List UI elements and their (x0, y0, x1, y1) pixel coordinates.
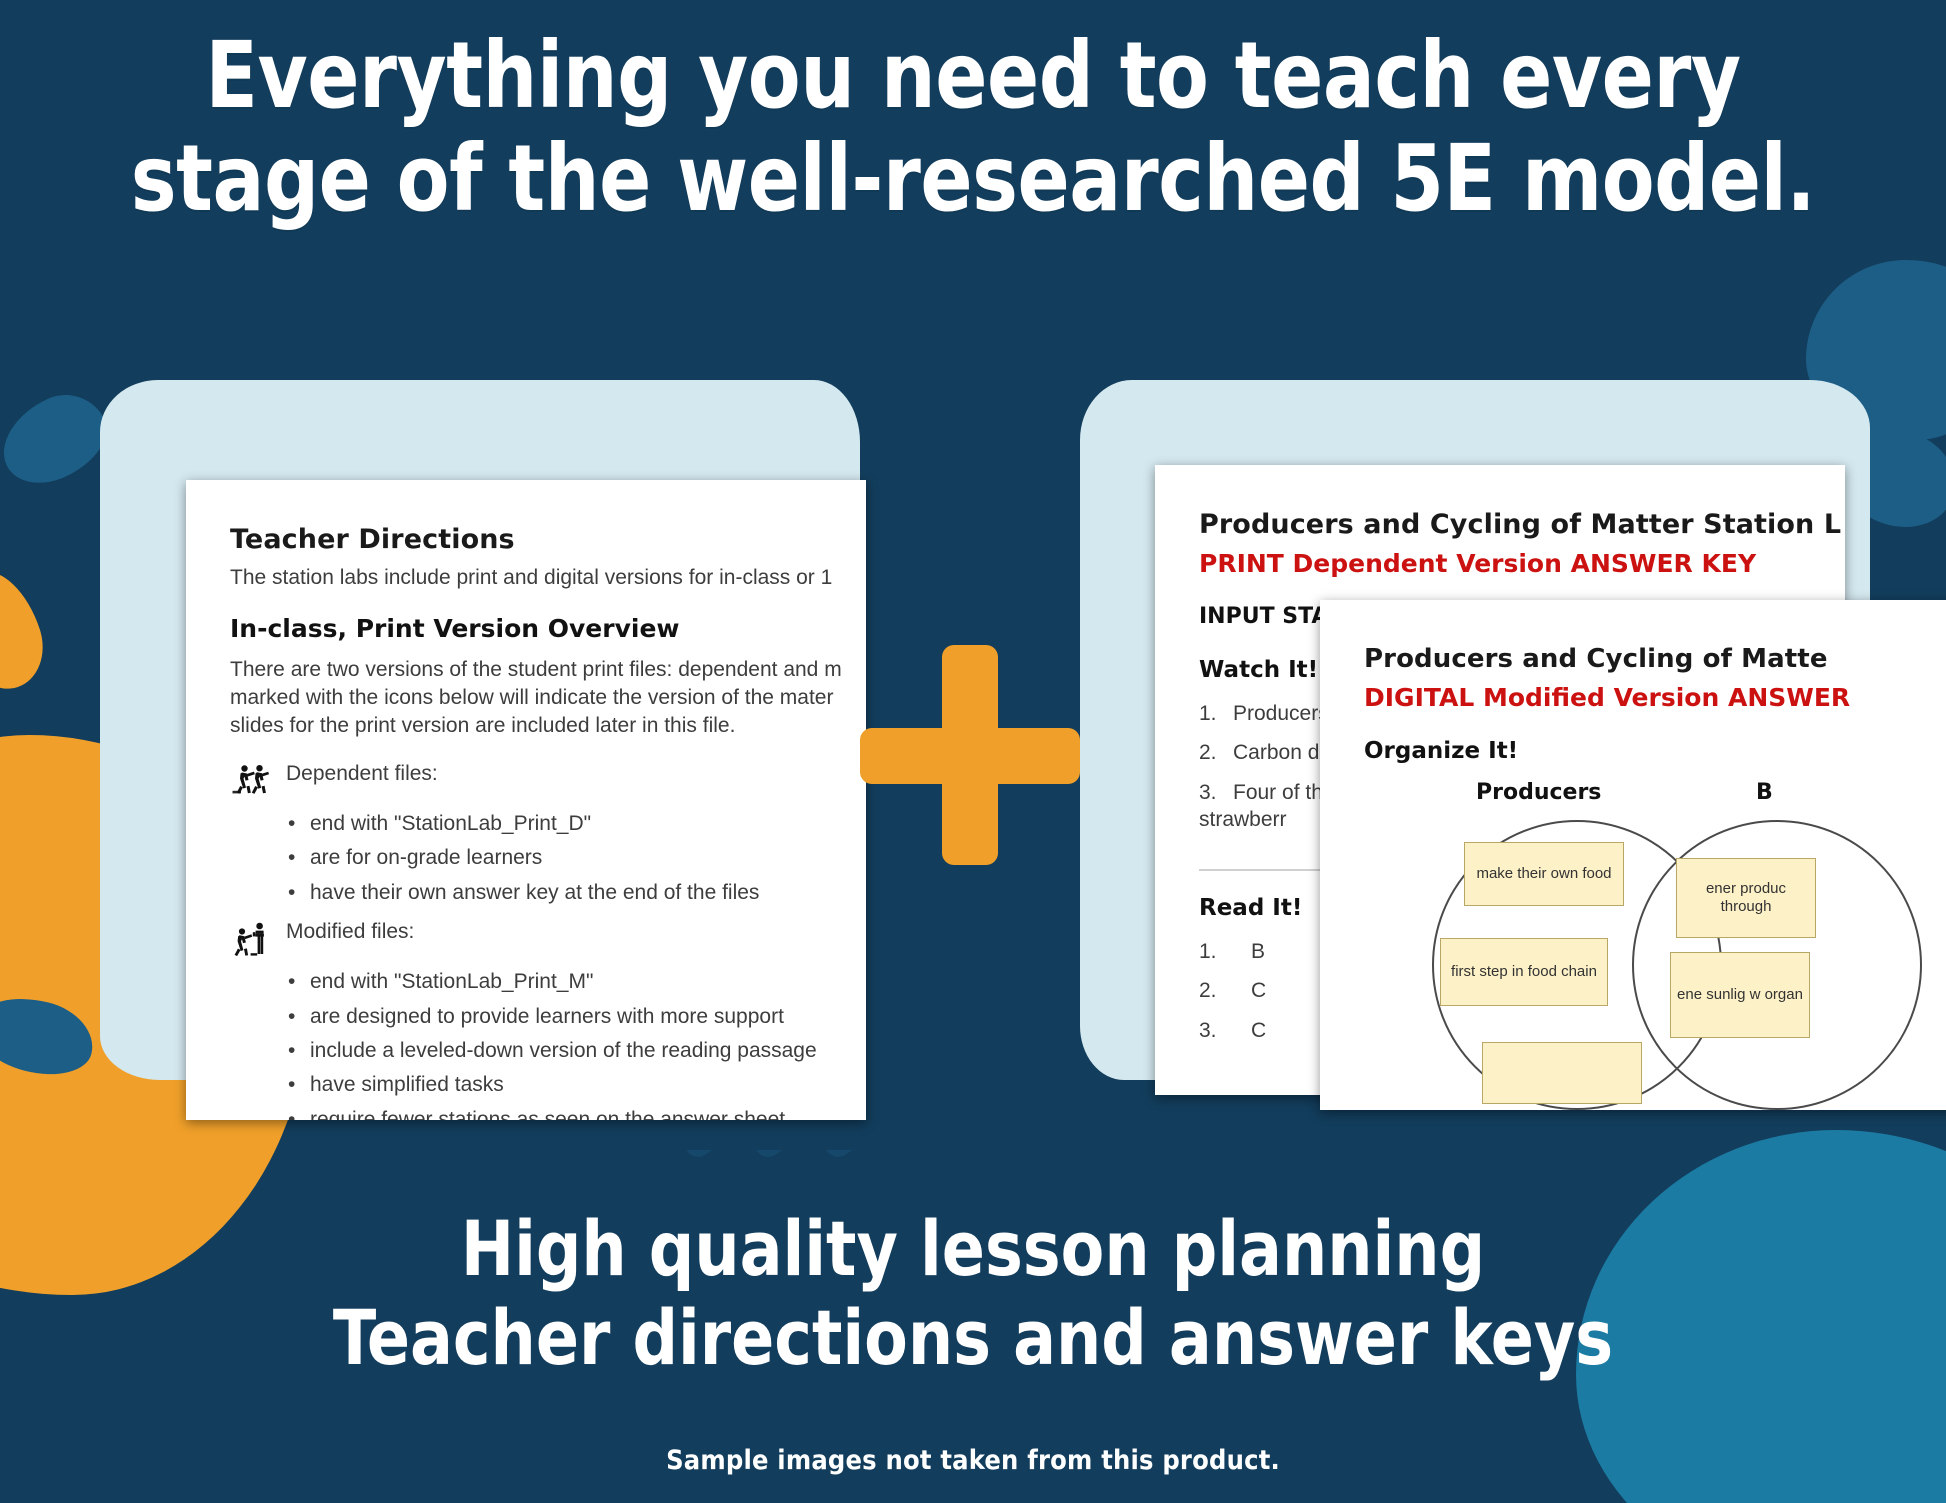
note-box: first step in food chain (1440, 938, 1608, 1006)
list-item: require fewer stations as seen on the an… (284, 1103, 866, 1120)
doc-left-paragraph-line-1: There are two versions of the student pr… (230, 656, 866, 684)
doc-left-paragraph-line-2: marked with the icons below will indicat… (230, 684, 866, 712)
doc-front-organize-heading: Organize It! (1364, 738, 1946, 764)
list-item: end with "StationLab_Print_M" (284, 965, 866, 999)
footer-headline-line-1: High quality lesson planning (68, 1205, 1878, 1294)
page-title: Everything you need to teach every stage… (68, 24, 1878, 230)
list-item: have simplified tasks (284, 1068, 866, 1102)
note-box: ener produc through (1676, 858, 1816, 938)
diagram-column-label-b: B (1756, 780, 1773, 805)
note-box: make their own food (1464, 842, 1624, 906)
note-box: ene sunlig w organ (1670, 952, 1810, 1038)
dependent-files-group: Dependent files: (230, 762, 866, 803)
doc-mid-subtitle: PRINT Dependent Version ANSWER KEY (1199, 549, 1845, 578)
dependent-files-label: Dependent files: (286, 762, 438, 786)
plus-icon (860, 645, 1080, 865)
digital-answer-key-document[interactable]: Producers and Cycling of Matte DIGITAL M… (1320, 600, 1946, 1110)
dependent-files-list: end with "StationLab_Print_D" are for on… (284, 807, 866, 910)
disclaimer-text: Sample images not taken from this produc… (0, 1445, 1946, 1476)
teacher-directions-document[interactable]: Teacher Directions The station labs incl… (186, 480, 866, 1120)
modified-files-list: end with "StationLab_Print_M" are design… (284, 965, 866, 1120)
list-item: have their own answer key at the end of … (284, 876, 866, 910)
doc-front-title: Producers and Cycling of Matte (1364, 644, 1946, 674)
page-title-line-1: Everything you need to teach every (68, 24, 1878, 127)
teacher-and-student-icon (230, 920, 270, 961)
page-title-line-2: stage of the well-researched 5E model. (68, 127, 1878, 230)
list-item: are for on-grade learners (284, 841, 866, 875)
organize-it-venn-diagram: Producers B make their own food ener pro… (1364, 780, 1946, 1110)
doc-left-title: Teacher Directions (230, 524, 866, 555)
modified-files-label: Modified files: (286, 920, 414, 944)
two-people-running-icon (230, 762, 270, 803)
diagram-column-label-producers: Producers (1476, 780, 1601, 805)
footer-headline: High quality lesson planning Teacher dir… (68, 1205, 1878, 1383)
decorative-blob-orange-small (0, 561, 55, 699)
doc-left-paragraph-line-3: slides for the print version are include… (230, 712, 866, 740)
list-item: are designed to provide learners with mo… (284, 1000, 866, 1034)
doc-left-intro: The station labs include print and digit… (230, 564, 866, 592)
doc-mid-title: Producers and Cycling of Matter Station … (1199, 509, 1845, 540)
note-box (1482, 1042, 1642, 1104)
list-item: include a leveled-down version of the re… (284, 1034, 866, 1068)
doc-left-section-heading: In-class, Print Version Overview (230, 614, 866, 643)
list-item: end with "StationLab_Print_D" (284, 807, 866, 841)
doc-front-subtitle: DIGITAL Modified Version ANSWER (1364, 683, 1946, 712)
footer-headline-line-2: Teacher directions and answer keys (68, 1294, 1878, 1383)
modified-files-group: Modified files: (230, 920, 866, 961)
